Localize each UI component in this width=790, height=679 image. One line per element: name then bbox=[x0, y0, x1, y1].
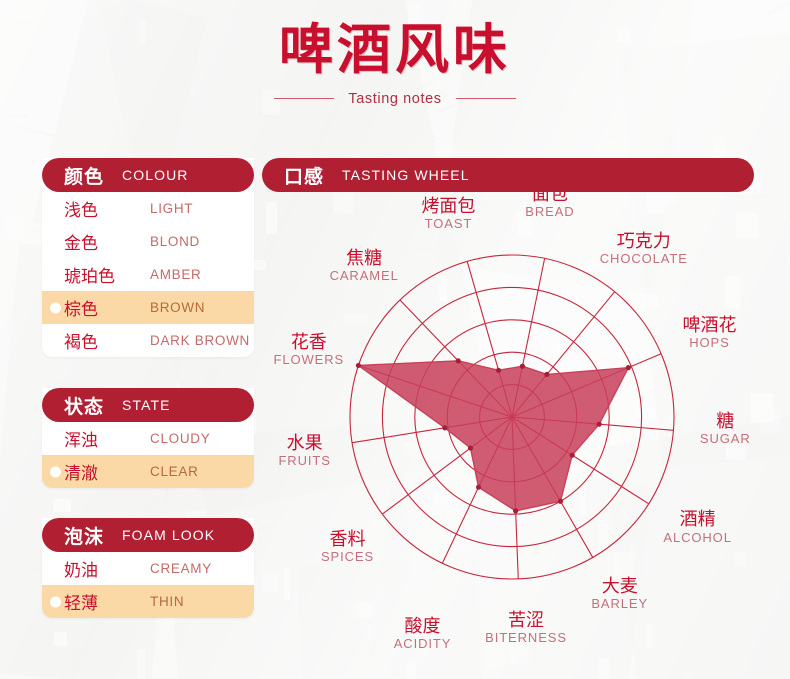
wheel-label-en: BARLEY bbox=[560, 597, 680, 612]
wheel-label-cn: 巧克力 bbox=[584, 232, 704, 252]
radar-data-point bbox=[558, 499, 563, 504]
wheel-label-cn: 烤面包 bbox=[388, 197, 508, 217]
option-label-en: DARK BROWN bbox=[150, 333, 250, 348]
panel-header-cn-foam: 泡沫 bbox=[64, 522, 104, 549]
wheel-label-cn: 花香 bbox=[249, 333, 369, 353]
wheel-label-chocolate: 巧克力CHOCOLATE bbox=[584, 232, 704, 267]
subtitle-row: Tasting notes bbox=[0, 91, 790, 107]
panel-foam: 泡沫FOAM LOOK奶油CREAMY轻薄THIN bbox=[42, 518, 254, 618]
wheel-label-flowers: 花香FLOWERS bbox=[249, 333, 369, 368]
option-row-light[interactable]: 浅色LIGHT bbox=[42, 192, 254, 225]
option-label-en: LIGHT bbox=[150, 201, 193, 216]
wheel-label-cn: 大麦 bbox=[560, 577, 680, 597]
option-label-en: BLOND bbox=[150, 234, 200, 249]
option-label-cn: 奶油 bbox=[64, 556, 150, 581]
option-label-cn: 金色 bbox=[64, 229, 150, 254]
option-label-cn: 清澈 bbox=[64, 459, 150, 484]
tasting-wheel-title-cn: 口感 bbox=[284, 162, 324, 189]
wheel-label-alcohol: 酒精ALCOHOL bbox=[638, 510, 758, 545]
wheel-label-fruits: 水果FRUITS bbox=[245, 434, 365, 469]
wheel-label-spices: 香料SPICES bbox=[288, 530, 408, 565]
option-row-creamy[interactable]: 奶油CREAMY bbox=[42, 552, 254, 585]
wheel-label-en: BITERNESS bbox=[466, 631, 586, 646]
radar-data-point bbox=[570, 453, 575, 458]
option-label-en: BROWN bbox=[150, 300, 205, 315]
option-row-clear[interactable]: 清澈CLEAR bbox=[42, 455, 254, 488]
option-label-cn: 轻薄 bbox=[64, 589, 150, 614]
tasting-wheel-pill: 口感 TASTING WHEEL bbox=[262, 158, 754, 192]
wheel-label-cn: 香料 bbox=[288, 530, 408, 550]
panel-header-cn-colour: 颜色 bbox=[64, 162, 104, 189]
panel-header-colour: 颜色COLOUR bbox=[42, 158, 254, 192]
radar-data-point bbox=[468, 445, 473, 450]
wheel-label-en: SPICES bbox=[288, 550, 408, 565]
wheel-label-barley: 大麦BARLEY bbox=[560, 577, 680, 612]
page-subtitle: Tasting notes bbox=[348, 91, 441, 107]
wheel-label-caramel: 焦糖CARAMEL bbox=[304, 249, 424, 284]
radar-data-point bbox=[544, 372, 549, 377]
option-label-en: THIN bbox=[150, 594, 184, 609]
radar-data-point bbox=[597, 422, 602, 427]
option-label-en: CREAMY bbox=[150, 561, 212, 576]
wheel-label-en: SUGAR bbox=[665, 432, 785, 447]
option-label-en: AMBER bbox=[150, 267, 202, 282]
option-label-cn: 浅色 bbox=[64, 196, 150, 221]
subtitle-rule-left bbox=[274, 98, 334, 99]
wheel-label-sugar: 糖SUGAR bbox=[665, 412, 785, 447]
panel-colour: 颜色COLOUR浅色LIGHT金色BLOND琥珀色AMBER棕色BROWN褐色D… bbox=[42, 158, 254, 357]
radar-data-polygon bbox=[358, 361, 628, 511]
wheel-label-cn: 酒精 bbox=[638, 510, 758, 530]
option-row-brown[interactable]: 棕色BROWN bbox=[42, 291, 254, 324]
wheel-label-cn: 焦糖 bbox=[304, 249, 424, 269]
wheel-label-cn: 糖 bbox=[665, 412, 785, 432]
wheel-label-en: ALCOHOL bbox=[638, 531, 758, 546]
wheel-label-cn: 苦涩 bbox=[466, 611, 586, 631]
wheel-label-en: FRUITS bbox=[245, 454, 365, 469]
wheel-label-cn: 啤酒花 bbox=[649, 316, 769, 336]
radar-data-point bbox=[513, 508, 518, 513]
panel-header-en-state: STATE bbox=[122, 397, 171, 413]
panel-header-state: 状态STATE bbox=[42, 388, 254, 422]
title-block: 啤酒风味 Tasting notes bbox=[0, 22, 790, 107]
selected-dot-icon bbox=[50, 466, 61, 477]
option-label-cn: 棕色 bbox=[64, 295, 150, 320]
radar-data-point bbox=[442, 425, 447, 430]
panel-header-en-foam: FOAM LOOK bbox=[122, 527, 215, 543]
wheel-label-toast: 烤面包TOAST bbox=[388, 197, 508, 232]
selected-dot-icon bbox=[50, 302, 61, 313]
wheel-label-cn: 酸度 bbox=[363, 617, 483, 637]
wheel-label-hops: 啤酒花HOPS bbox=[649, 316, 769, 351]
option-label-cn: 褐色 bbox=[64, 328, 150, 353]
selected-dot-icon bbox=[50, 596, 61, 607]
radar-data-point bbox=[520, 364, 525, 369]
option-label-en: CLOUDY bbox=[150, 431, 210, 446]
panel-header-en-colour: COLOUR bbox=[122, 167, 189, 183]
wheel-label-en: ACIDITY bbox=[363, 637, 483, 652]
option-row-thin[interactable]: 轻薄THIN bbox=[42, 585, 254, 618]
wheel-label-acidity: 酸度ACIDITY bbox=[363, 617, 483, 652]
radar-data-point bbox=[626, 365, 631, 370]
wheel-label-cn: 水果 bbox=[245, 434, 365, 454]
page-root: 啤酒风味 Tasting notes 颜色COLOUR浅色LIGHT金色BLON… bbox=[0, 0, 790, 679]
radar-data-point bbox=[476, 485, 481, 490]
option-row-dark-brown[interactable]: 褐色DARK BROWN bbox=[42, 324, 254, 357]
panel-rows-colour: 浅色LIGHT金色BLOND琥珀色AMBER棕色BROWN褐色DARK BROW… bbox=[42, 175, 254, 357]
option-label-cn: 浑浊 bbox=[64, 426, 150, 451]
wheel-label-biterness: 苦涩BITERNESS bbox=[466, 611, 586, 646]
tasting-wheel-header: 口感 TASTING WHEEL bbox=[262, 158, 754, 192]
option-row-blond[interactable]: 金色BLOND bbox=[42, 225, 254, 258]
page-title: 啤酒风味 bbox=[0, 22, 790, 79]
wheel-label-en: CHOCOLATE bbox=[584, 252, 704, 267]
tasting-wheel-title-en: TASTING WHEEL bbox=[342, 167, 470, 183]
panel-card-state: 状态STATE浑浊CLOUDY清澈CLEAR bbox=[42, 388, 254, 488]
wheel-label-en: TOAST bbox=[388, 217, 508, 232]
radar-data-point bbox=[496, 368, 501, 373]
option-label-cn: 琥珀色 bbox=[64, 262, 150, 287]
wheel-label-en: CARAMEL bbox=[304, 269, 424, 284]
panel-header-foam: 泡沫FOAM LOOK bbox=[42, 518, 254, 552]
radar-data-point bbox=[456, 358, 461, 363]
panel-card-colour: 颜色COLOUR浅色LIGHT金色BLOND琥珀色AMBER棕色BROWN褐色D… bbox=[42, 158, 254, 357]
wheel-label-en: HOPS bbox=[649, 336, 769, 351]
option-row-cloudy[interactable]: 浑浊CLOUDY bbox=[42, 422, 254, 455]
tasting-wheel-chart: 面包BREAD巧克力CHOCOLATE啤酒花HOPS糖SUGAR酒精ALCOHO… bbox=[262, 196, 762, 666]
subtitle-rule-right bbox=[456, 98, 516, 99]
wheel-label-en: FLOWERS bbox=[249, 353, 369, 368]
panel-card-foam: 泡沫FOAM LOOK奶油CREAMY轻薄THIN bbox=[42, 518, 254, 618]
option-label-en: CLEAR bbox=[150, 464, 199, 479]
panel-state: 状态STATE浑浊CLOUDY清澈CLEAR bbox=[42, 388, 254, 488]
option-row-amber[interactable]: 琥珀色AMBER bbox=[42, 258, 254, 291]
panel-header-cn-state: 状态 bbox=[64, 392, 104, 419]
